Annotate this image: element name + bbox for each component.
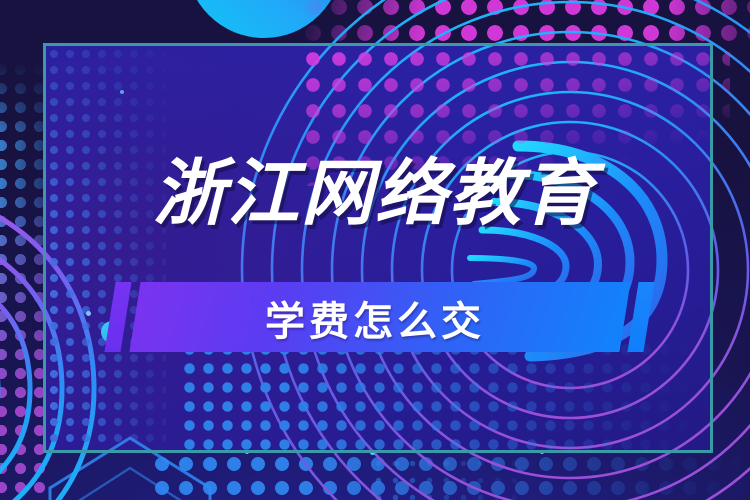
subtitle-banner: 学费怎么交: [0, 283, 750, 355]
subtitle-text: 学费怎么交: [0, 283, 750, 353]
decorative-frame: [43, 43, 713, 453]
poster-banner: 浙江网络教育 学费怎么交: [0, 0, 750, 500]
